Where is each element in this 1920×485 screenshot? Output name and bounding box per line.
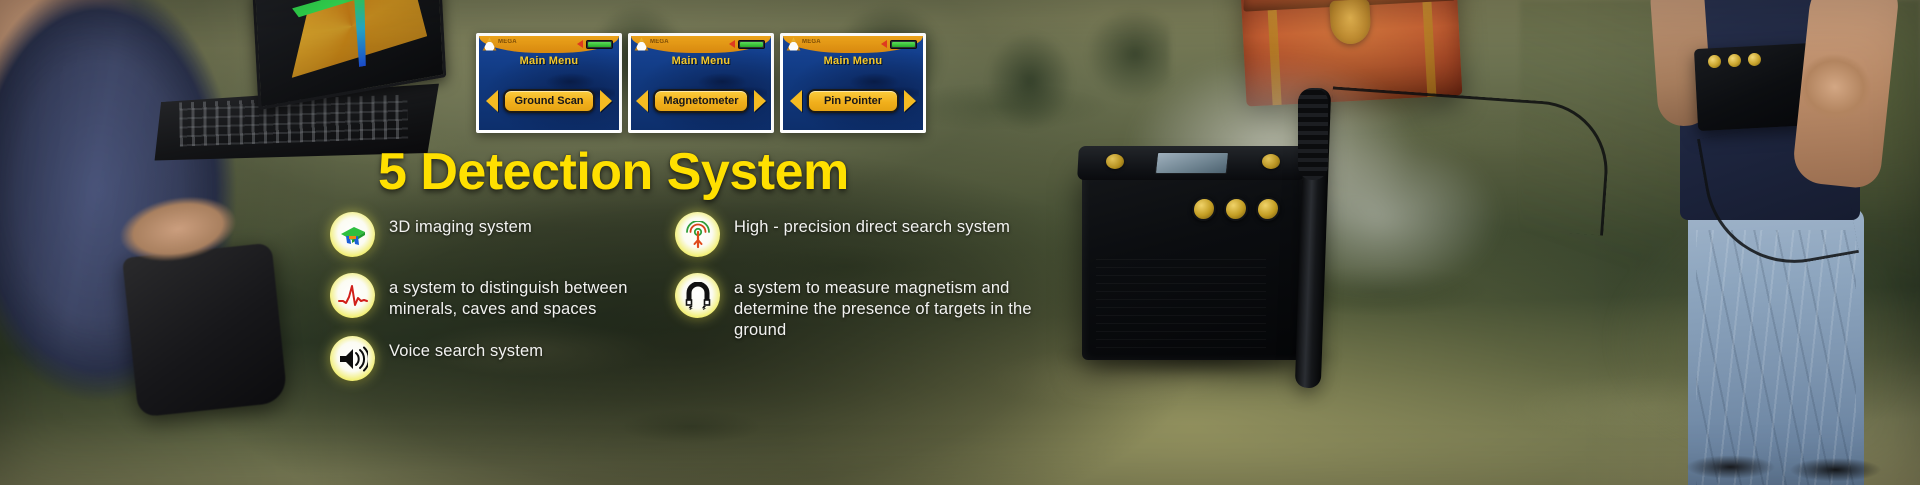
feature-item-high-precision: High - precision direct search system <box>675 212 1035 257</box>
panel-mode-selector: Pin Pointer <box>783 89 923 113</box>
speaker-icon <box>577 40 583 48</box>
feature-label: a system to distinguish between minerals… <box>389 273 660 320</box>
chevron-right-icon[interactable] <box>600 90 612 112</box>
feature-column-left: 3D imaging system a system to distinguis… <box>330 212 660 397</box>
feature-item-voice-search: Voice search system <box>330 336 660 381</box>
detector-display <box>1155 152 1229 174</box>
device-screen-panels: MEGA Main Menu Ground Scan MEGA Main Men… <box>476 33 926 133</box>
feature-item-3d-imaging: 3D imaging system <box>330 212 660 257</box>
brand-label: MEGA <box>650 39 669 45</box>
pulse-wave-icon <box>330 273 375 318</box>
feature-label: a system to measure magnetism and determ… <box>734 273 1035 341</box>
feature-column-right: High - precision direct search system a … <box>675 212 1035 357</box>
detector-knob <box>1106 154 1124 169</box>
mode-button[interactable]: Magnetometer <box>653 89 748 113</box>
mode-button[interactable]: Ground Scan <box>503 89 595 113</box>
3d-scan-icon <box>330 212 375 257</box>
panel-mode-selector: Magnetometer <box>631 89 771 113</box>
brand-label: MEGA <box>802 39 821 45</box>
magnet-icon <box>675 273 720 318</box>
detector-port <box>1191 197 1216 221</box>
detector-case-texture <box>1096 256 1266 348</box>
feature-label: 3D imaging system <box>389 212 532 238</box>
chevron-left-icon[interactable] <box>636 90 648 112</box>
detector-case <box>1082 160 1302 360</box>
feature-label: Voice search system <box>389 336 543 362</box>
promo-banner: MEGA Main Menu Ground Scan MEGA Main Men… <box>0 0 1920 485</box>
detector-port-group <box>1191 196 1290 222</box>
battery-icon <box>890 40 917 49</box>
search-shaft-grip <box>1298 88 1328 180</box>
device-panel-magnetometer[interactable]: MEGA Main Menu Magnetometer <box>628 33 774 133</box>
chevron-right-icon[interactable] <box>904 90 916 112</box>
feature-item-mineral-discrimination: a system to distinguish between minerals… <box>330 273 660 320</box>
device-panel-pin-pointer[interactable]: MEGA Main Menu Pin Pointer <box>780 33 926 133</box>
battery-icon <box>586 40 613 49</box>
feature-label: High - precision direct search system <box>734 212 1010 238</box>
control-box-knob-group <box>1708 53 1762 69</box>
right-person-hand <box>1797 49 1880 129</box>
right-person-jeans-folds <box>1696 230 1856 485</box>
control-box-knob <box>1708 55 1722 69</box>
page-title: 5 Detection System <box>378 142 849 202</box>
detector-knob <box>1262 154 1280 169</box>
device-panel-ground-scan[interactable]: MEGA Main Menu Ground Scan <box>476 33 622 133</box>
chevron-right-icon[interactable] <box>754 90 766 112</box>
battery-icon <box>738 40 765 49</box>
detector-port <box>1255 197 1280 221</box>
control-box-knob <box>1728 54 1742 68</box>
detector-cable <box>1324 86 1612 235</box>
shoulder-bag <box>122 243 288 418</box>
speaker-icon <box>330 336 375 381</box>
panel-title: Main Menu <box>479 55 619 67</box>
mode-button[interactable]: Pin Pointer <box>807 89 899 113</box>
chevron-left-icon[interactable] <box>790 90 802 112</box>
right-person <box>1652 0 1920 485</box>
detector-port <box>1223 197 1248 221</box>
speaker-icon <box>881 40 887 48</box>
signal-target-icon <box>675 212 720 257</box>
panel-title: Main Menu <box>631 55 771 67</box>
feature-item-magnetism: a system to measure magnetism and determ… <box>675 273 1035 341</box>
panel-mode-selector: Ground Scan <box>479 89 619 113</box>
chevron-left-icon[interactable] <box>486 90 498 112</box>
panel-title: Main Menu <box>783 55 923 67</box>
speaker-icon <box>729 40 735 48</box>
control-box-knob <box>1748 53 1762 67</box>
brand-label: MEGA <box>498 39 517 45</box>
right-person-shoes <box>1676 450 1886 484</box>
